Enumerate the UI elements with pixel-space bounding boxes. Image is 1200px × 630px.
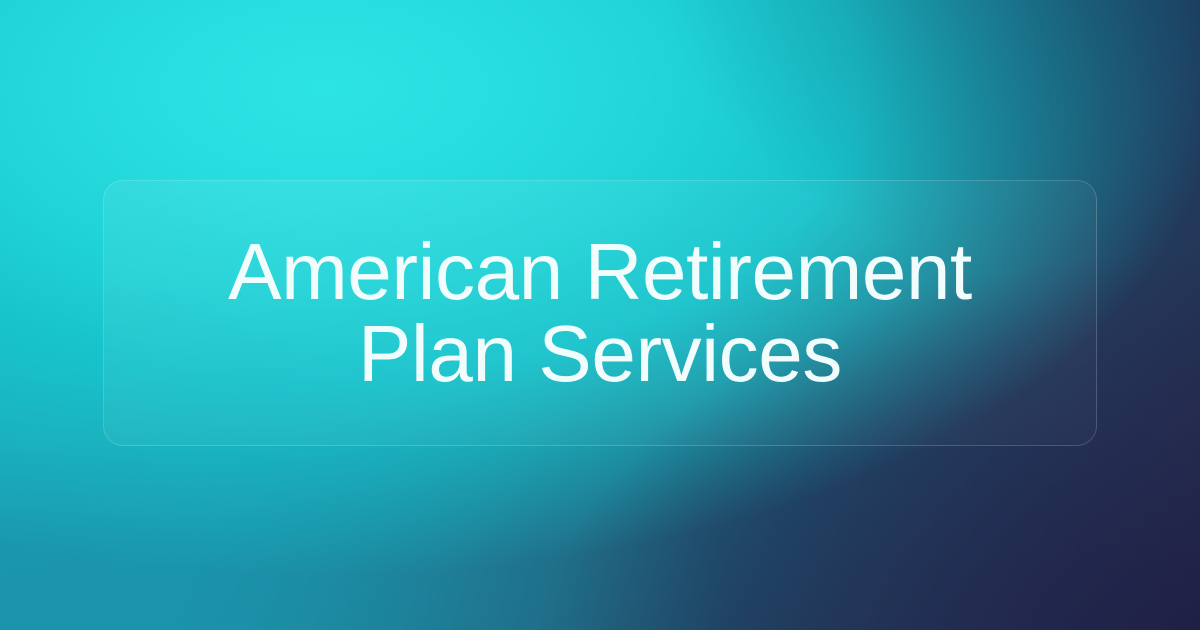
page-title-line-1: American Retirement	[104, 231, 1096, 313]
page-title-line-2: Plan Services	[104, 313, 1096, 395]
social-share-canvas: American Retirement Plan Services	[0, 0, 1200, 630]
page-title: American Retirement Plan Services	[104, 231, 1096, 396]
title-card: American Retirement Plan Services	[103, 180, 1097, 446]
